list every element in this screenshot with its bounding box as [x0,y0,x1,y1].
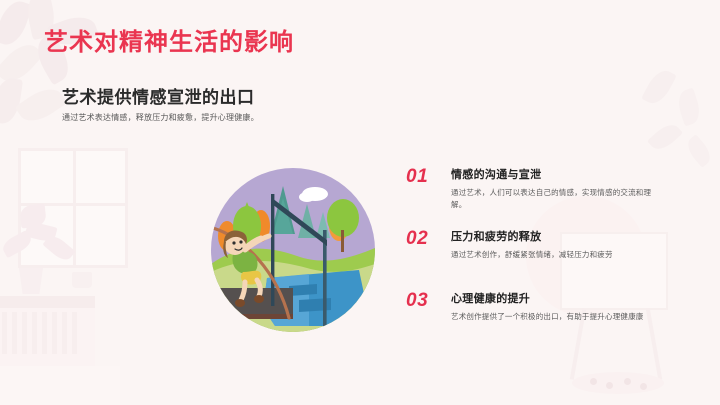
leaf-shape [683,134,715,168]
watermark-window [18,148,128,268]
list-item-body: 压力和疲劳的释放 通过艺术创作，舒缓紧张情绪，减轻压力和疲劳 [451,228,706,261]
slide-canvas: 艺术对精神生活的影响 艺术提供情感宣泄的出口 通过艺术表达情感，释放压力和疲惫，… [0,0,720,405]
list-item: 02 压力和疲劳的释放 通过艺术创作，舒缓紧张情绪，减轻压力和疲劳 [406,228,706,284]
list-item-heading: 情感的沟通与宣泄 [451,166,706,182]
watermark-book [52,312,57,354]
list-item-heading: 心理健康的提升 [451,290,706,306]
page-title: 艺术对精神生活的影响 [44,22,294,57]
watermark-book [22,312,27,354]
watermark-book [72,312,77,354]
list-item: 03 心理健康的提升 艺术创作提供了一个积极的出口，有助于提升心理健康康 [406,290,706,346]
watermark-book [42,312,47,354]
list-item: 01 情感的沟通与宣泄 通过艺术，人们可以表达自己的情感，实现情感的交流和理解。 [406,166,706,222]
section-subtitle-description: 通过艺术表达情感，释放压力和疲惫，提升心理健康。 [62,112,259,123]
list-item-description: 艺术创作提供了一个积极的出口，有助于提升心理健康康 [451,311,656,323]
key-points-list: 01 情感的沟通与宣泄 通过艺术，人们可以表达自己的情感，实现情感的交流和理解。… [406,166,706,352]
watermark-paint-palette [572,372,664,394]
leaf-shape [0,76,23,125]
watermark-palette-dot [624,378,631,385]
list-item-number: 01 [406,166,446,188]
watermark-plant-leaf [0,230,34,258]
watermark-book [12,312,17,354]
leaf-shape [15,81,68,128]
list-item-description: 通过艺术，人们可以表达自己的情感，实现情感的交流和理解。 [451,187,656,210]
watermark-book [32,312,37,354]
list-item-heading: 压力和疲劳的释放 [451,228,706,244]
watermark-plant-leaf [25,221,58,244]
list-item-description: 通过艺术创作，舒缓紧张情绪，减轻压力和疲劳 [451,249,656,261]
leaf-shape [641,66,677,108]
list-item-number: 02 [406,228,446,250]
leaf-motif-right [636,58,720,168]
watermark-desk-organizer [72,272,92,288]
watermark-desk-body [0,308,95,366]
list-item-number: 03 [406,290,446,312]
watermark-floor [0,366,120,405]
pole-vault-illustration [211,168,375,332]
watermark-desk-top [0,296,95,308]
leaf-shape [0,0,32,49]
leaf-shape [0,37,44,89]
leaf-shape [647,119,683,154]
watermark-plant-pot [16,268,46,294]
watermark-plant-leaf [42,232,75,264]
watermark-book [2,312,7,354]
section-subtitle: 艺术提供情感宣泄的出口 [62,83,255,108]
watermark-palette-dot [590,378,597,385]
list-item-body: 情感的沟通与宣泄 通过艺术，人们可以表达自己的情感，实现情感的交流和理解。 [451,166,706,210]
watermark-palette-dot [640,383,647,390]
leaf-shape [674,88,703,127]
watermark-plant-leaf [19,204,47,229]
watermark-palette-dot [606,382,613,389]
list-item-body: 心理健康的提升 艺术创作提供了一个积极的出口，有助于提升心理健康康 [451,290,706,323]
watermark-book [62,312,67,354]
